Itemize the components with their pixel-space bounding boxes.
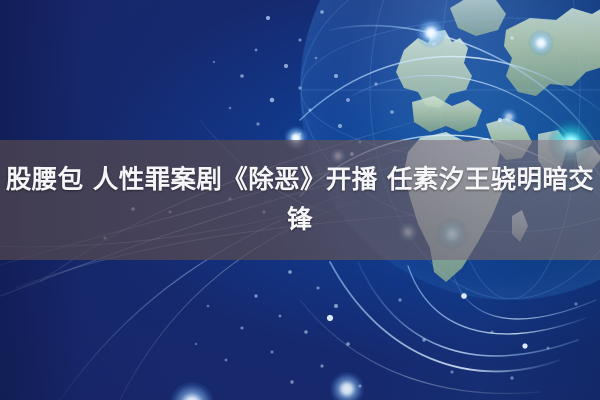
caption-text: 股腰包 人性罪案剧《除恶》开播 任素汐王骁明暗交锋 — [0, 160, 600, 240]
caption-band: 股腰包 人性罪案剧《除恶》开播 任素汐王骁明暗交锋 — [0, 140, 600, 260]
banner-image: 股腰包 人性罪案剧《除恶》开播 任素汐王骁明暗交锋 — [0, 0, 600, 400]
